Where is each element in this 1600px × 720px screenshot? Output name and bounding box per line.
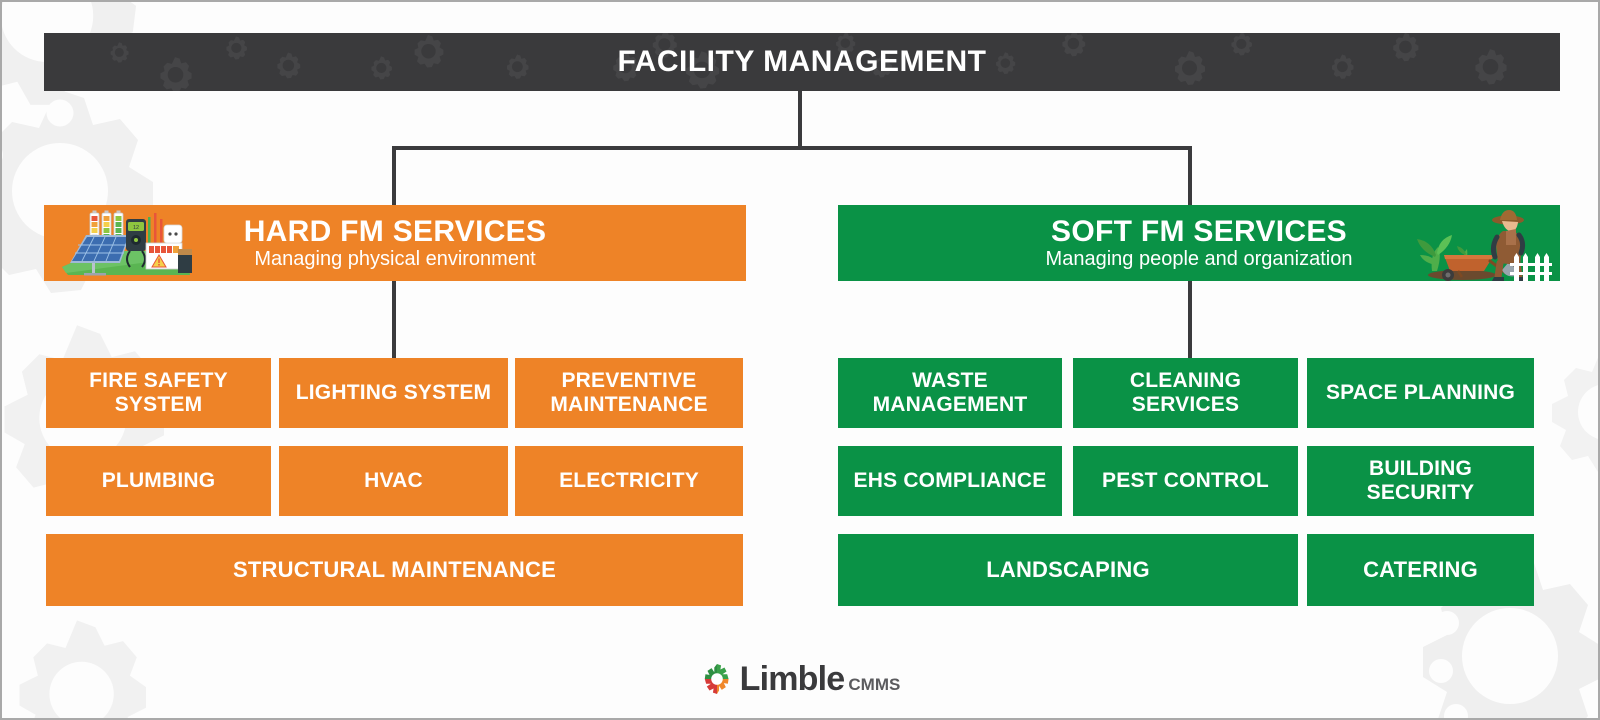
branch-title-soft-fm: SOFT FM SERVICES xyxy=(1046,216,1353,248)
connector-horizontal-bus xyxy=(392,146,1192,150)
solar-panel-electrical-illustration-icon: 12 xyxy=(56,205,196,281)
connector-root-vertical xyxy=(798,91,802,149)
root-header-facility-management: FACILITY MANAGEMENT xyxy=(44,33,1560,91)
service-box-building-security[interactable]: BUILDING SECURITY xyxy=(1307,446,1534,516)
connector-to-soft-fm xyxy=(1188,146,1192,208)
branch-header-hard-fm-texts: HARD FM SERVICES Managing physical envir… xyxy=(234,216,557,271)
service-box-preventive-maintenance[interactable]: PREVENTIVE MAINTENANCE xyxy=(515,358,743,428)
branch-header-soft-fm: SOFT FM SERVICES Managing people and org… xyxy=(838,205,1560,281)
service-box-landscaping[interactable]: LANDSCAPING xyxy=(838,534,1298,606)
limble-wordmark: Limble xyxy=(740,662,845,696)
svg-text:12: 12 xyxy=(133,225,139,231)
branch-title-hard-fm: HARD FM SERVICES xyxy=(244,216,547,248)
service-box-ehs-compliance[interactable]: EHS COMPLIANCE xyxy=(838,446,1062,516)
watermark-gear-bottom-left xyxy=(0,602,192,720)
service-box-electricity[interactable]: ELECTRICITY xyxy=(515,446,743,516)
service-box-space-planning[interactable]: SPACE PLANNING xyxy=(1307,358,1534,428)
connector-soft-fm-to-services xyxy=(1188,279,1192,359)
gardener-wheelbarrow-illustration-icon xyxy=(1402,205,1552,281)
limble-cmms-logo: Limble CMMS xyxy=(2,662,1598,696)
limble-gear-logo-icon xyxy=(700,662,734,696)
service-box-catering[interactable]: CATERING xyxy=(1307,534,1534,606)
page-title: FACILITY MANAGEMENT xyxy=(618,45,987,79)
service-box-waste-management[interactable]: WASTE MANAGEMENT xyxy=(838,358,1062,428)
service-box-structural-maintenance[interactable]: STRUCTURAL MAINTENANCE xyxy=(46,534,743,606)
service-box-pest-control[interactable]: PEST CONTROL xyxy=(1073,446,1298,516)
service-box-lighting-system[interactable]: LIGHTING SYSTEM xyxy=(279,358,508,428)
branch-header-hard-fm: 12 xyxy=(44,205,746,281)
service-box-hvac[interactable]: HVAC xyxy=(279,446,508,516)
service-box-fire-safety-system[interactable]: FIRE SAFETY SYSTEM xyxy=(46,358,271,428)
cmms-suffix: CMMS xyxy=(848,676,900,696)
diagram-canvas: FACILITY MANAGEMENT xyxy=(0,0,1600,720)
branch-subtitle-hard-fm: Managing physical environment xyxy=(244,249,547,270)
branch-subtitle-soft-fm: Managing people and organization xyxy=(1046,249,1353,270)
connector-to-hard-fm xyxy=(392,146,396,208)
service-box-cleaning-services[interactable]: CLEANING SERVICES xyxy=(1073,358,1298,428)
connector-hard-fm-to-services xyxy=(392,279,396,359)
branch-header-soft-fm-texts: SOFT FM SERVICES Managing people and org… xyxy=(1036,216,1363,271)
service-box-plumbing[interactable]: PLUMBING xyxy=(46,446,271,516)
